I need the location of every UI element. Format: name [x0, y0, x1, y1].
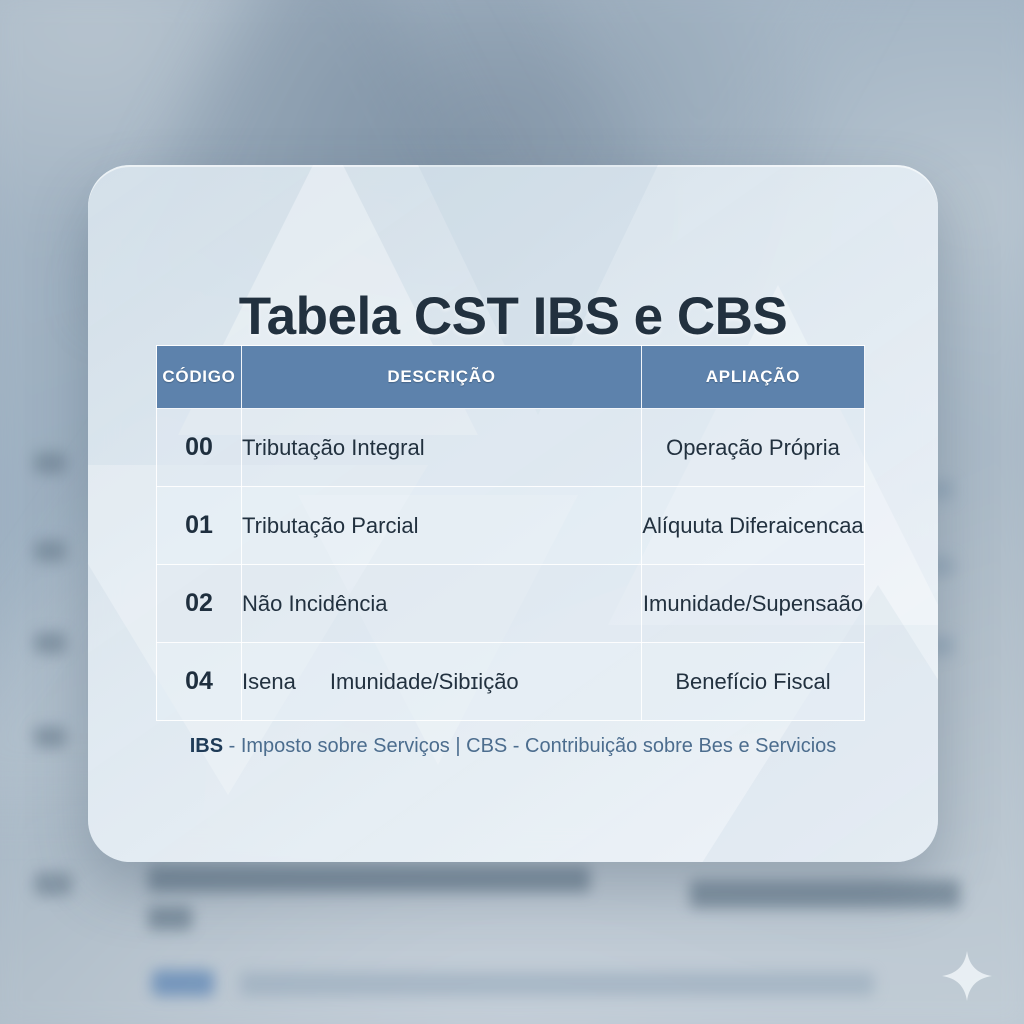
page-title: Tabela CST IBS e CBS	[88, 286, 938, 347]
apliacao-text: Imunidade/Supensaão	[643, 591, 863, 617]
descricao-text: Tributação Integral	[242, 435, 425, 460]
legend-text: - Imposto sobre Serviços | CBS - Contrib…	[223, 735, 836, 757]
cell-codigo: 01	[157, 487, 242, 565]
cell-apliacao: Imunidade/Supensaão	[642, 565, 865, 643]
legend-abbr: IBS	[190, 735, 223, 757]
table-row: 01 Tributação Parcial Alíquuta Diferaice…	[157, 487, 865, 565]
column-header-descricao: DESCRIÇÃO	[242, 346, 642, 409]
cell-descricao: IsenaImunidade/Sibɪição	[242, 643, 642, 721]
cell-apliacao: Operação Própria	[642, 409, 865, 487]
cell-apliacao: Benefício Fiscal	[642, 643, 865, 721]
cell-codigo: 00	[157, 409, 242, 487]
table-body: 00 Tributação Integral Operação Própria …	[157, 409, 865, 721]
descricao-text: Não Incidência	[242, 591, 388, 616]
legend-footnote: IBS - Imposto sobre Serviços | CBS - Con…	[88, 735, 938, 758]
backdrop-ghost-code	[34, 726, 66, 748]
backdrop-ghost-text	[240, 972, 874, 996]
cell-codigo: 04	[157, 643, 242, 721]
info-card: Tabela CST IBS e CBS CÓDIGO DESCRIÇÃO AP…	[88, 165, 938, 862]
table-header: CÓDIGO DESCRIÇÃO APLIAÇÃO	[157, 346, 865, 409]
backdrop-ghost-code	[34, 632, 66, 654]
backdrop-ghost-code	[34, 872, 72, 896]
backdrop-ghost-heading	[148, 866, 590, 892]
table-header-row: CÓDIGO DESCRIÇÃO APLIAÇÃO	[157, 346, 865, 409]
cell-descricao: Tributação Parcial	[242, 487, 642, 565]
descricao-text-extra: Imunidade/Sibɪição	[330, 669, 519, 694]
cell-descricao: Não Incidência	[242, 565, 642, 643]
backdrop-ghost-heading	[148, 906, 192, 930]
backdrop-ghost-code	[34, 452, 66, 474]
cell-apliacao: Alíquuta Diferaicencaa	[642, 487, 865, 565]
descricao-text: Isena	[242, 669, 296, 694]
apliacao-text: Benefício Fiscal	[675, 669, 830, 695]
backdrop-ghost-code	[34, 540, 66, 562]
table-row: 04 IsenaImunidade/Sibɪição Benefício Fis…	[157, 643, 865, 721]
sparkle-icon	[941, 948, 993, 1004]
backdrop-ghost-accent	[152, 970, 214, 996]
table-row: 02 Não Incidência Imunidade/Supensaão	[157, 565, 865, 643]
table-row: 00 Tributação Integral Operação Própria	[157, 409, 865, 487]
cst-table: CÓDIGO DESCRIÇÃO APLIAÇÃO 00 Tributação …	[156, 345, 865, 721]
cell-descricao: Tributação Integral	[242, 409, 642, 487]
apliacao-text: Operação Própria	[666, 435, 840, 461]
cell-codigo: 02	[157, 565, 242, 643]
backdrop-ghost-heading	[690, 880, 960, 908]
apliacao-text: Alíquuta Diferaicencaa	[642, 513, 863, 539]
column-header-codigo: CÓDIGO	[157, 346, 242, 409]
descricao-text: Tributação Parcial	[242, 513, 418, 538]
column-header-apliacao: APLIAÇÃO	[642, 346, 865, 409]
